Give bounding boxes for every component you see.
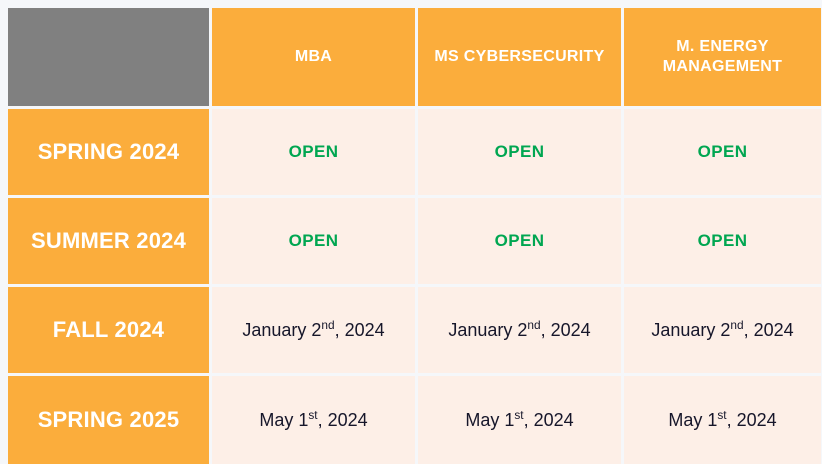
status-badge: OPEN <box>418 109 621 195</box>
status-badge: OPEN <box>212 198 415 284</box>
deadline-date-suffix: , 2024 <box>744 320 794 340</box>
status-badge: OPEN <box>418 198 621 284</box>
table-corner-cell <box>8 8 209 106</box>
row-header-spring-2024: SPRING 2024 <box>8 109 209 195</box>
deadline-date-suffix: , 2024 <box>524 410 574 430</box>
status-badge: OPEN <box>624 109 821 195</box>
deadline-date-suffix: , 2024 <box>318 410 368 430</box>
deadline-date-suffix: , 2024 <box>335 320 385 340</box>
deadline-date-base: January 2 <box>651 320 730 340</box>
deadline-date-suffix: , 2024 <box>541 320 591 340</box>
deadline-date: January 2nd, 2024 <box>418 287 621 373</box>
column-header-mba: MBA <box>212 8 415 106</box>
status-badge: OPEN <box>212 109 415 195</box>
row-header-fall-2024: FALL 2024 <box>8 287 209 373</box>
deadline-date-base: January 2 <box>448 320 527 340</box>
deadline-date: January 2nd, 2024 <box>624 287 821 373</box>
deadline-date-ordinal: st <box>514 408 523 422</box>
status-badge: OPEN <box>624 198 821 284</box>
deadline-date: January 2nd, 2024 <box>212 287 415 373</box>
deadline-date: May 1st, 2024 <box>624 376 821 464</box>
deadline-date-suffix: , 2024 <box>727 410 777 430</box>
deadline-date-base: May 1 <box>668 410 717 430</box>
column-header-ms-cybersecurity: MS CYBERSECURITY <box>418 8 621 106</box>
column-header-m-energy-management: M. ENERGY MANAGEMENT <box>624 8 821 106</box>
deadline-date: May 1st, 2024 <box>212 376 415 464</box>
deadline-date-ordinal: nd <box>730 318 743 332</box>
admission-deadlines-table: MBA MS CYBERSECURITY M. ENERGY MANAGEMEN… <box>8 8 812 452</box>
deadline-date-base: January 2 <box>242 320 321 340</box>
row-header-spring-2025: SPRING 2025 <box>8 376 209 464</box>
deadline-date-base: May 1 <box>259 410 308 430</box>
deadline-date: May 1st, 2024 <box>418 376 621 464</box>
deadline-date-ordinal: st <box>308 408 317 422</box>
deadline-date-base: May 1 <box>465 410 514 430</box>
deadline-date-ordinal: nd <box>321 318 334 332</box>
deadline-date-ordinal: nd <box>527 318 540 332</box>
deadline-date-ordinal: st <box>717 408 726 422</box>
row-header-summer-2024: SUMMER 2024 <box>8 198 209 284</box>
